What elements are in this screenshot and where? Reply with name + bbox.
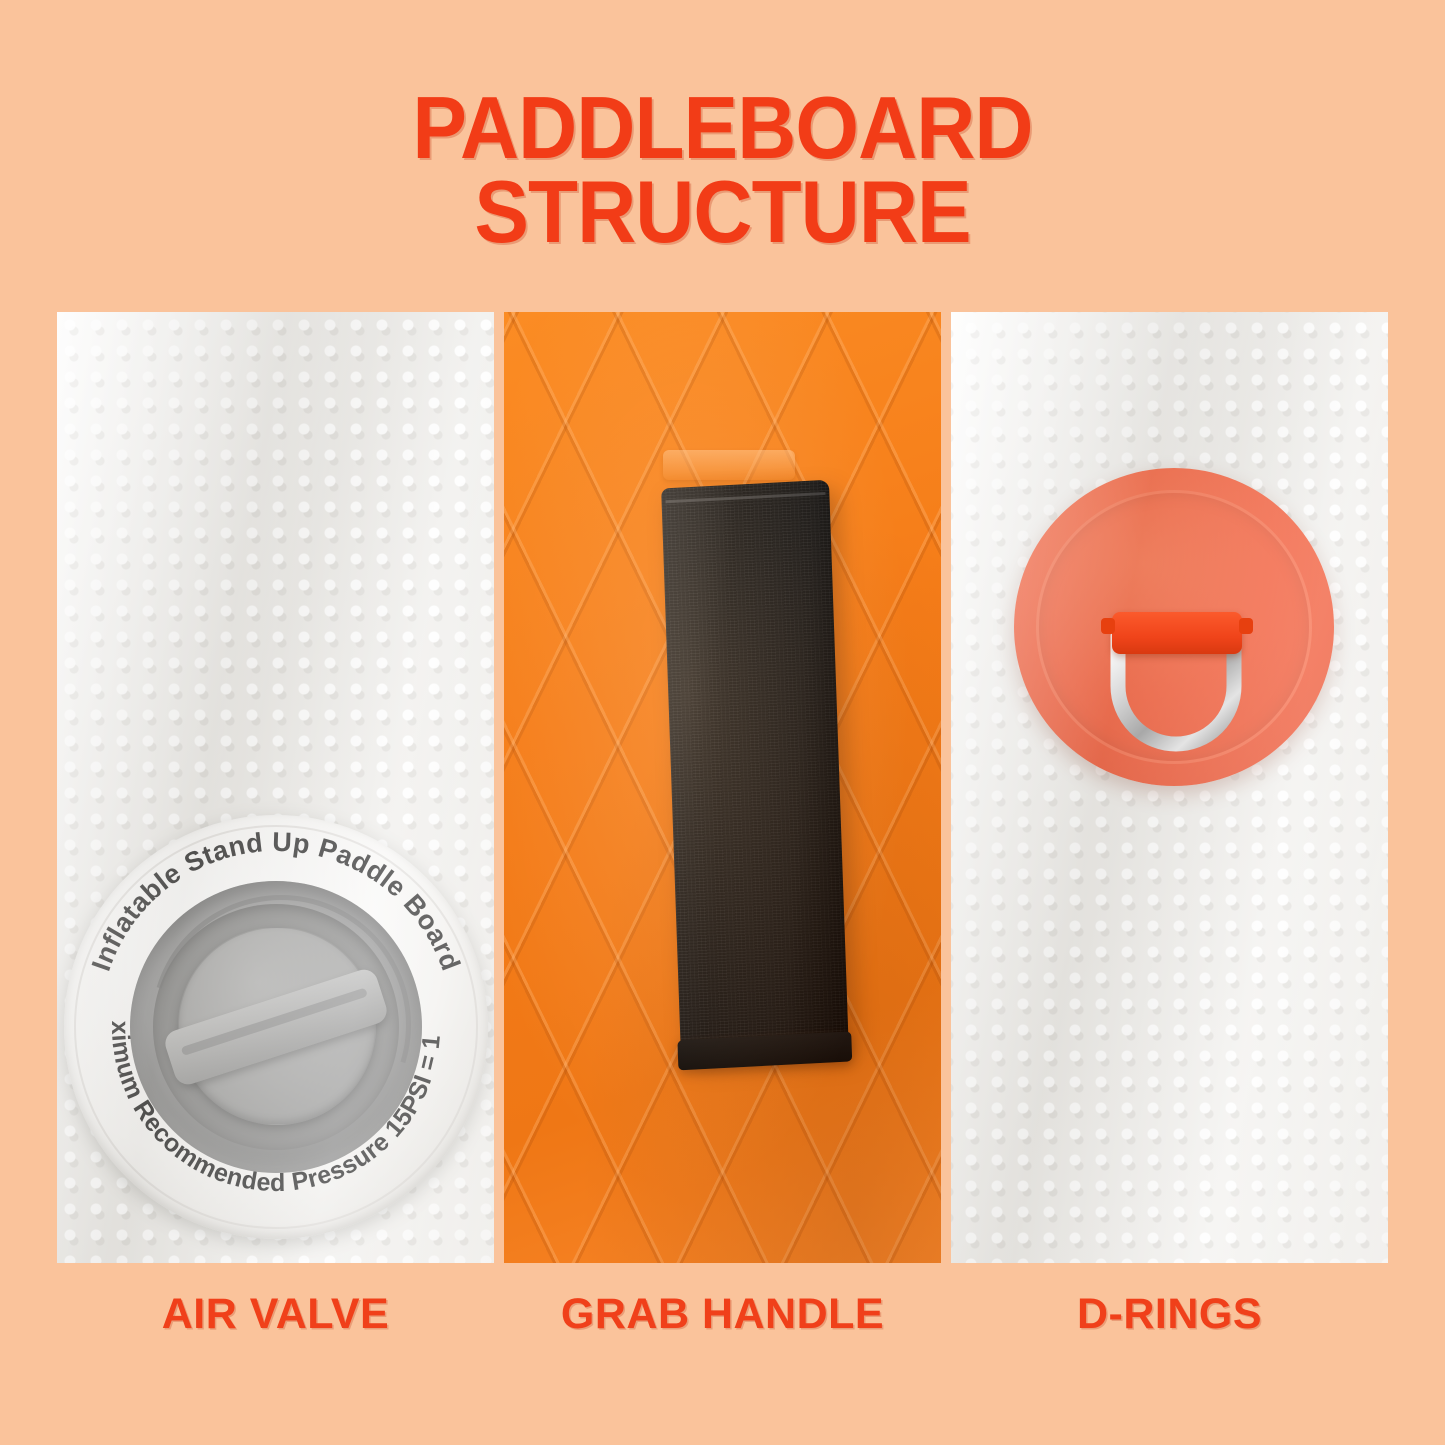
caption-d-rings: D-RINGS — [951, 1290, 1388, 1360]
caption-grab-handle: GRAB HANDLE — [504, 1290, 941, 1360]
handle-sheen — [661, 480, 849, 1061]
d-ring-patch — [1014, 468, 1334, 786]
page-title: PADDLEBOARD STRUCTURE — [0, 86, 1445, 255]
grab-handle-strap[interactable] — [661, 480, 849, 1061]
panel-d-rings — [951, 312, 1388, 1263]
air-valve-assembly: Inflatable Stand Up Paddle Board Maximum… — [64, 815, 488, 1239]
feature-panels: Inflatable Stand Up Paddle Board Maximum… — [57, 312, 1388, 1263]
paddleboard-structure-infographic: PADDLEBOARD STRUCTURE Inflatable Stand U — [0, 0, 1445, 1445]
title-line-1: PADDLEBOARD — [51, 86, 1395, 170]
panel-grab-handle — [504, 312, 941, 1263]
caption-air-valve: AIR VALVE — [57, 1290, 494, 1360]
handle-attachment-seam — [663, 450, 795, 480]
title-line-2: STRUCTURE — [51, 170, 1395, 254]
panel-captions: AIR VALVE GRAB HANDLE D-RINGS — [57, 1290, 1388, 1360]
panel-air-valve: Inflatable Stand Up Paddle Board Maximum… — [57, 312, 494, 1263]
d-ring-mount-tab — [1112, 612, 1242, 654]
